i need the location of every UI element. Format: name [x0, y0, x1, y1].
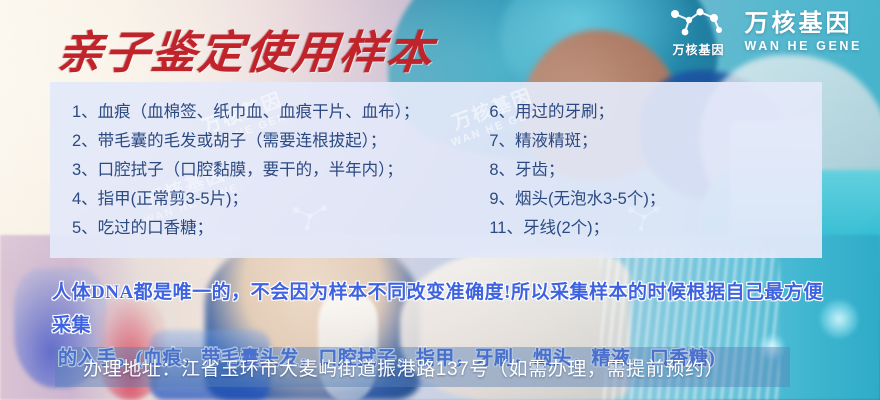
address-text: 办理地址：江省玉环市大麦屿街道振港路137号（如需办理，需提前预约）	[55, 354, 724, 381]
poster-root: 万核基因 万核基因 WAN HE GENE 亲子鉴定使用样本 万核基因 WAN …	[0, 0, 880, 400]
brand-logo: 万核基因 万核基因 WAN HE GENE	[667, 6, 863, 58]
brand-mark-label: 万核基因	[672, 41, 724, 58]
list-item: 4、指甲(正常剪3-5片)；	[72, 185, 463, 214]
list-item: 9、烟头(无泡水3-5个)；	[489, 185, 822, 214]
list-item: 8、牙齿；	[489, 156, 822, 185]
list-item: 3、口腔拭子（口腔黏膜，要干的，半年内）；	[72, 156, 463, 185]
list-item: 6、用过的牙刷；	[489, 98, 822, 127]
list-item: 7、精液精斑；	[489, 127, 822, 156]
sample-list-right-column: 6、用过的牙刷； 7、精液精斑； 8、牙齿； 9、烟头(无泡水3-5个)； 11…	[463, 82, 822, 258]
note-line-1: 人体DNA都是唯一的，不会因为样本不同改变准确度!所以采集样本的时候根据自己最方…	[52, 276, 842, 342]
page-title: 亲子鉴定使用样本	[55, 16, 438, 81]
list-item: 1、血痕（血棉签、纸巾血、血痕干片、血布）；	[72, 98, 463, 127]
brand-name-cn: 万核基因	[745, 11, 863, 36]
sample-list-left-column: 1、血痕（血棉签、纸巾血、血痕干片、血布）； 2、带毛囊的毛发或胡子（需要连根拔…	[50, 82, 463, 258]
list-item: 2、带毛囊的毛发或胡子（需要连根拔起）；	[72, 127, 463, 156]
brand-name-en: WAN HE GENE	[745, 39, 863, 53]
sample-list-card: 万核基因 WAN HE GENE 万核基因 WAN HE GENE 万核基因 W…	[50, 82, 822, 258]
dna-molecule-icon	[667, 6, 731, 40]
list-item: 11、牙线(2个)；	[489, 214, 822, 243]
brand-mark: 万核基因	[667, 6, 731, 58]
address-band: 办理地址：江省玉环市大麦屿街道振港路137号（如需办理，需提前预约）	[55, 347, 790, 387]
brand-wordmark: 万核基因 WAN HE GENE	[745, 11, 863, 52]
list-item: 5、吃过的口香糖；	[72, 214, 463, 243]
